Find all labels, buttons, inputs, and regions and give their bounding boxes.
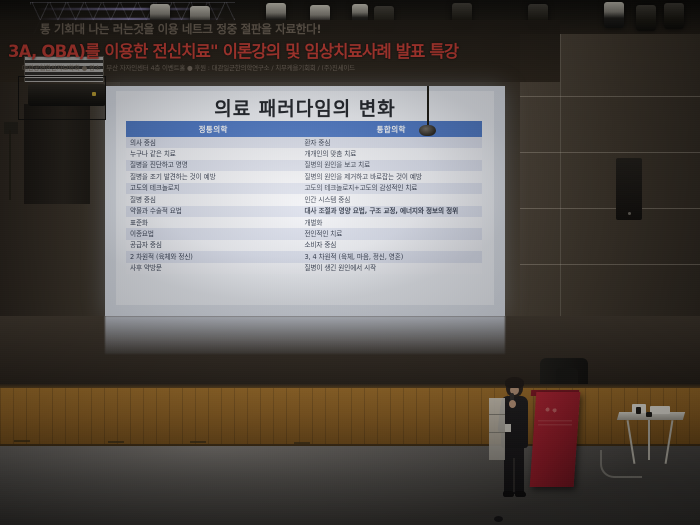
av-table-leg <box>648 420 650 460</box>
column-header-integrative: 통합의학 <box>300 121 482 137</box>
banner-subtitle-top: 통 기회대 나는 러는것을 이용 네트크 정중 절판을 자료한다! <box>40 21 560 37</box>
cell-conventional: 표준화 <box>126 217 300 228</box>
slide-comparison-table: 정통의학 통합의학 의사 중심 환자 중심 누구나 같은 치료 개개인의 맞춤 … <box>126 121 482 274</box>
table-body: 의사 중심 환자 중심 누구나 같은 치료 개개인의 맞춤 치료 질병을 진단하… <box>126 137 482 274</box>
lecture-hall-photo: 통 기회대 나는 러는것을 이용 네트크 정중 절판을 자료한다! 3A, OB… <box>0 0 700 525</box>
cell-integrative: 3, 4 차원적 (육체, 마음, 정신, 영혼) <box>300 251 482 262</box>
cell-conventional: 질병 중심 <box>126 194 300 205</box>
cell-integrative: 질병의 원인을 제거하고 바로잡는 것이 예방 <box>300 171 482 182</box>
floor-object <box>494 516 503 522</box>
hanging-mic-icon <box>419 125 436 136</box>
wall-tile-line <box>560 34 561 334</box>
stage-light <box>604 2 624 28</box>
cell-conventional: 누구나 같은 치료 <box>126 148 300 159</box>
wall-tile-line <box>520 152 700 153</box>
av-device <box>650 406 670 414</box>
cell-conventional: 사후 약방문 <box>126 263 300 274</box>
presenter-shoe <box>503 491 514 497</box>
table-row: 누구나 같은 치료 개개인의 맞춤 치료 <box>126 148 482 159</box>
podium-text-block <box>538 420 572 428</box>
table-row: 질병을 진단하고 명명 질병의 원인을 보고 치료 <box>126 160 482 171</box>
cell-conventional: 이종요법 <box>126 228 300 239</box>
cell-conventional: 질병을 진단하고 명명 <box>126 160 300 171</box>
table-row-highlighted: 약물과 수술적 요법 대사 조절과 영양 요법, 구조 교정, 에너지와 정보의… <box>126 206 482 217</box>
column-header-conventional: 정통의학 <box>126 121 300 137</box>
cell-integrative: 고도의 테크놀로지+고도의 감성적인 치료 <box>300 183 482 194</box>
table-row: 의사 중심 환자 중심 <box>126 137 482 148</box>
table-row: 고도의 테크놀로지 고도의 테크놀로지+고도의 감성적인 치료 <box>126 183 482 194</box>
stage-front-panel <box>0 388 700 446</box>
wall-tile-line <box>520 208 700 209</box>
cell-conventional: 공급자 중심 <box>126 240 300 251</box>
cell-conventional: 의사 중심 <box>126 137 300 148</box>
cell-conventional: 약물과 수술적 요법 <box>126 206 300 217</box>
speaker-led-icon <box>628 212 631 215</box>
wall-speaker-right <box>616 158 642 220</box>
presenter-shoe <box>515 491 526 497</box>
floor-shading <box>0 446 700 525</box>
slide-title: 의료 패러다임의 변화 <box>116 94 494 121</box>
projection-screen: 의료 패러다임의 변화 정통의학 통합의학 의사 중심 환자 중심 누구나 같은… <box>105 86 505 316</box>
presenter-hair <box>505 377 524 388</box>
riser-seam <box>489 414 505 415</box>
cell-conventional: 2 차원적 (육체와 정신) <box>126 251 300 262</box>
table-row: 2 차원적 (육체와 정신) 3, 4 차원적 (육체, 마음, 정신, 영혼) <box>126 251 482 262</box>
cell-integrative: 인간 시스템 중심 <box>300 194 482 205</box>
av-device-dark <box>646 412 652 417</box>
table-row: 질병을 조기 발견하는 것이 예방 질병의 원인을 제거하고 바로잡는 것이 예… <box>126 171 482 182</box>
event-banner: 통 기회대 나는 러는것을 이용 네트크 정중 절판을 자료한다! 3A, OB… <box>0 20 560 82</box>
cell-integrative: 질병의 원인을 보고 치료 <box>300 160 482 171</box>
podium-emblem-icon <box>541 404 563 418</box>
wall-tile-line <box>520 264 700 265</box>
stage-light <box>636 5 656 31</box>
av-device-dark <box>636 407 641 414</box>
stage-light <box>664 3 684 29</box>
riser-box <box>489 398 505 460</box>
cell-integrative: 개개인의 맞춤 치료 <box>300 148 482 159</box>
table-row: 질병 중심 인간 시스템 중심 <box>126 194 482 205</box>
stage-vent <box>14 440 30 442</box>
stage-vent <box>190 441 206 443</box>
table-row: 표준화 개별화 <box>126 217 482 228</box>
hanging-mic-wire <box>427 86 429 128</box>
stage-vent <box>108 441 124 443</box>
slide-surface: 의료 패러다임의 변화 정통의학 통합의학 의사 중심 환자 중심 누구나 같은… <box>116 91 494 305</box>
cell-integrative: 전인적인 치료 <box>300 228 482 239</box>
cell-integrative: 소비자 중심 <box>300 240 482 251</box>
cell-conventional: 고도의 테크놀로지 <box>126 183 300 194</box>
projector-mount-frame <box>18 76 106 120</box>
table-row: 이종요법 전인적인 치료 <box>126 228 482 239</box>
table-row: 사후 약방문 질병이 생긴 원인에서 시작 <box>126 263 482 274</box>
cell-conventional: 질병을 조기 발견하는 것이 예방 <box>126 171 300 182</box>
cell-integrative: 개별화 <box>300 217 482 228</box>
presenter-badge <box>505 424 511 432</box>
banner-details: 대관공협한신자보학회 ● 장소 : 부산 자자인센터 4층 이벤트홀 ● 후원 … <box>22 62 562 72</box>
cell-integrative: 환자 중심 <box>300 137 482 148</box>
riser-seam <box>489 432 505 433</box>
banner-title: 3A, OBA)를 이용한 전신치료" 이론강의 및 임상치료사례 발표 특강 <box>8 38 560 62</box>
table-row: 공급자 중심 소비자 중심 <box>126 240 482 251</box>
wall-tile-line <box>520 96 700 97</box>
cell-integrative-highlighted: 대사 조절과 영양 요법, 구조 교정, 에너지와 정보의 정위 <box>300 206 482 217</box>
wall-bracket <box>4 122 18 134</box>
screen-spill-light <box>105 316 505 354</box>
presenter-hand <box>509 400 516 408</box>
av-cable <box>600 450 642 478</box>
cell-integrative: 질병이 생긴 원인에서 시작 <box>300 263 482 274</box>
presenter-leg-gap <box>513 458 515 492</box>
wall-bracket-pole <box>9 130 11 200</box>
